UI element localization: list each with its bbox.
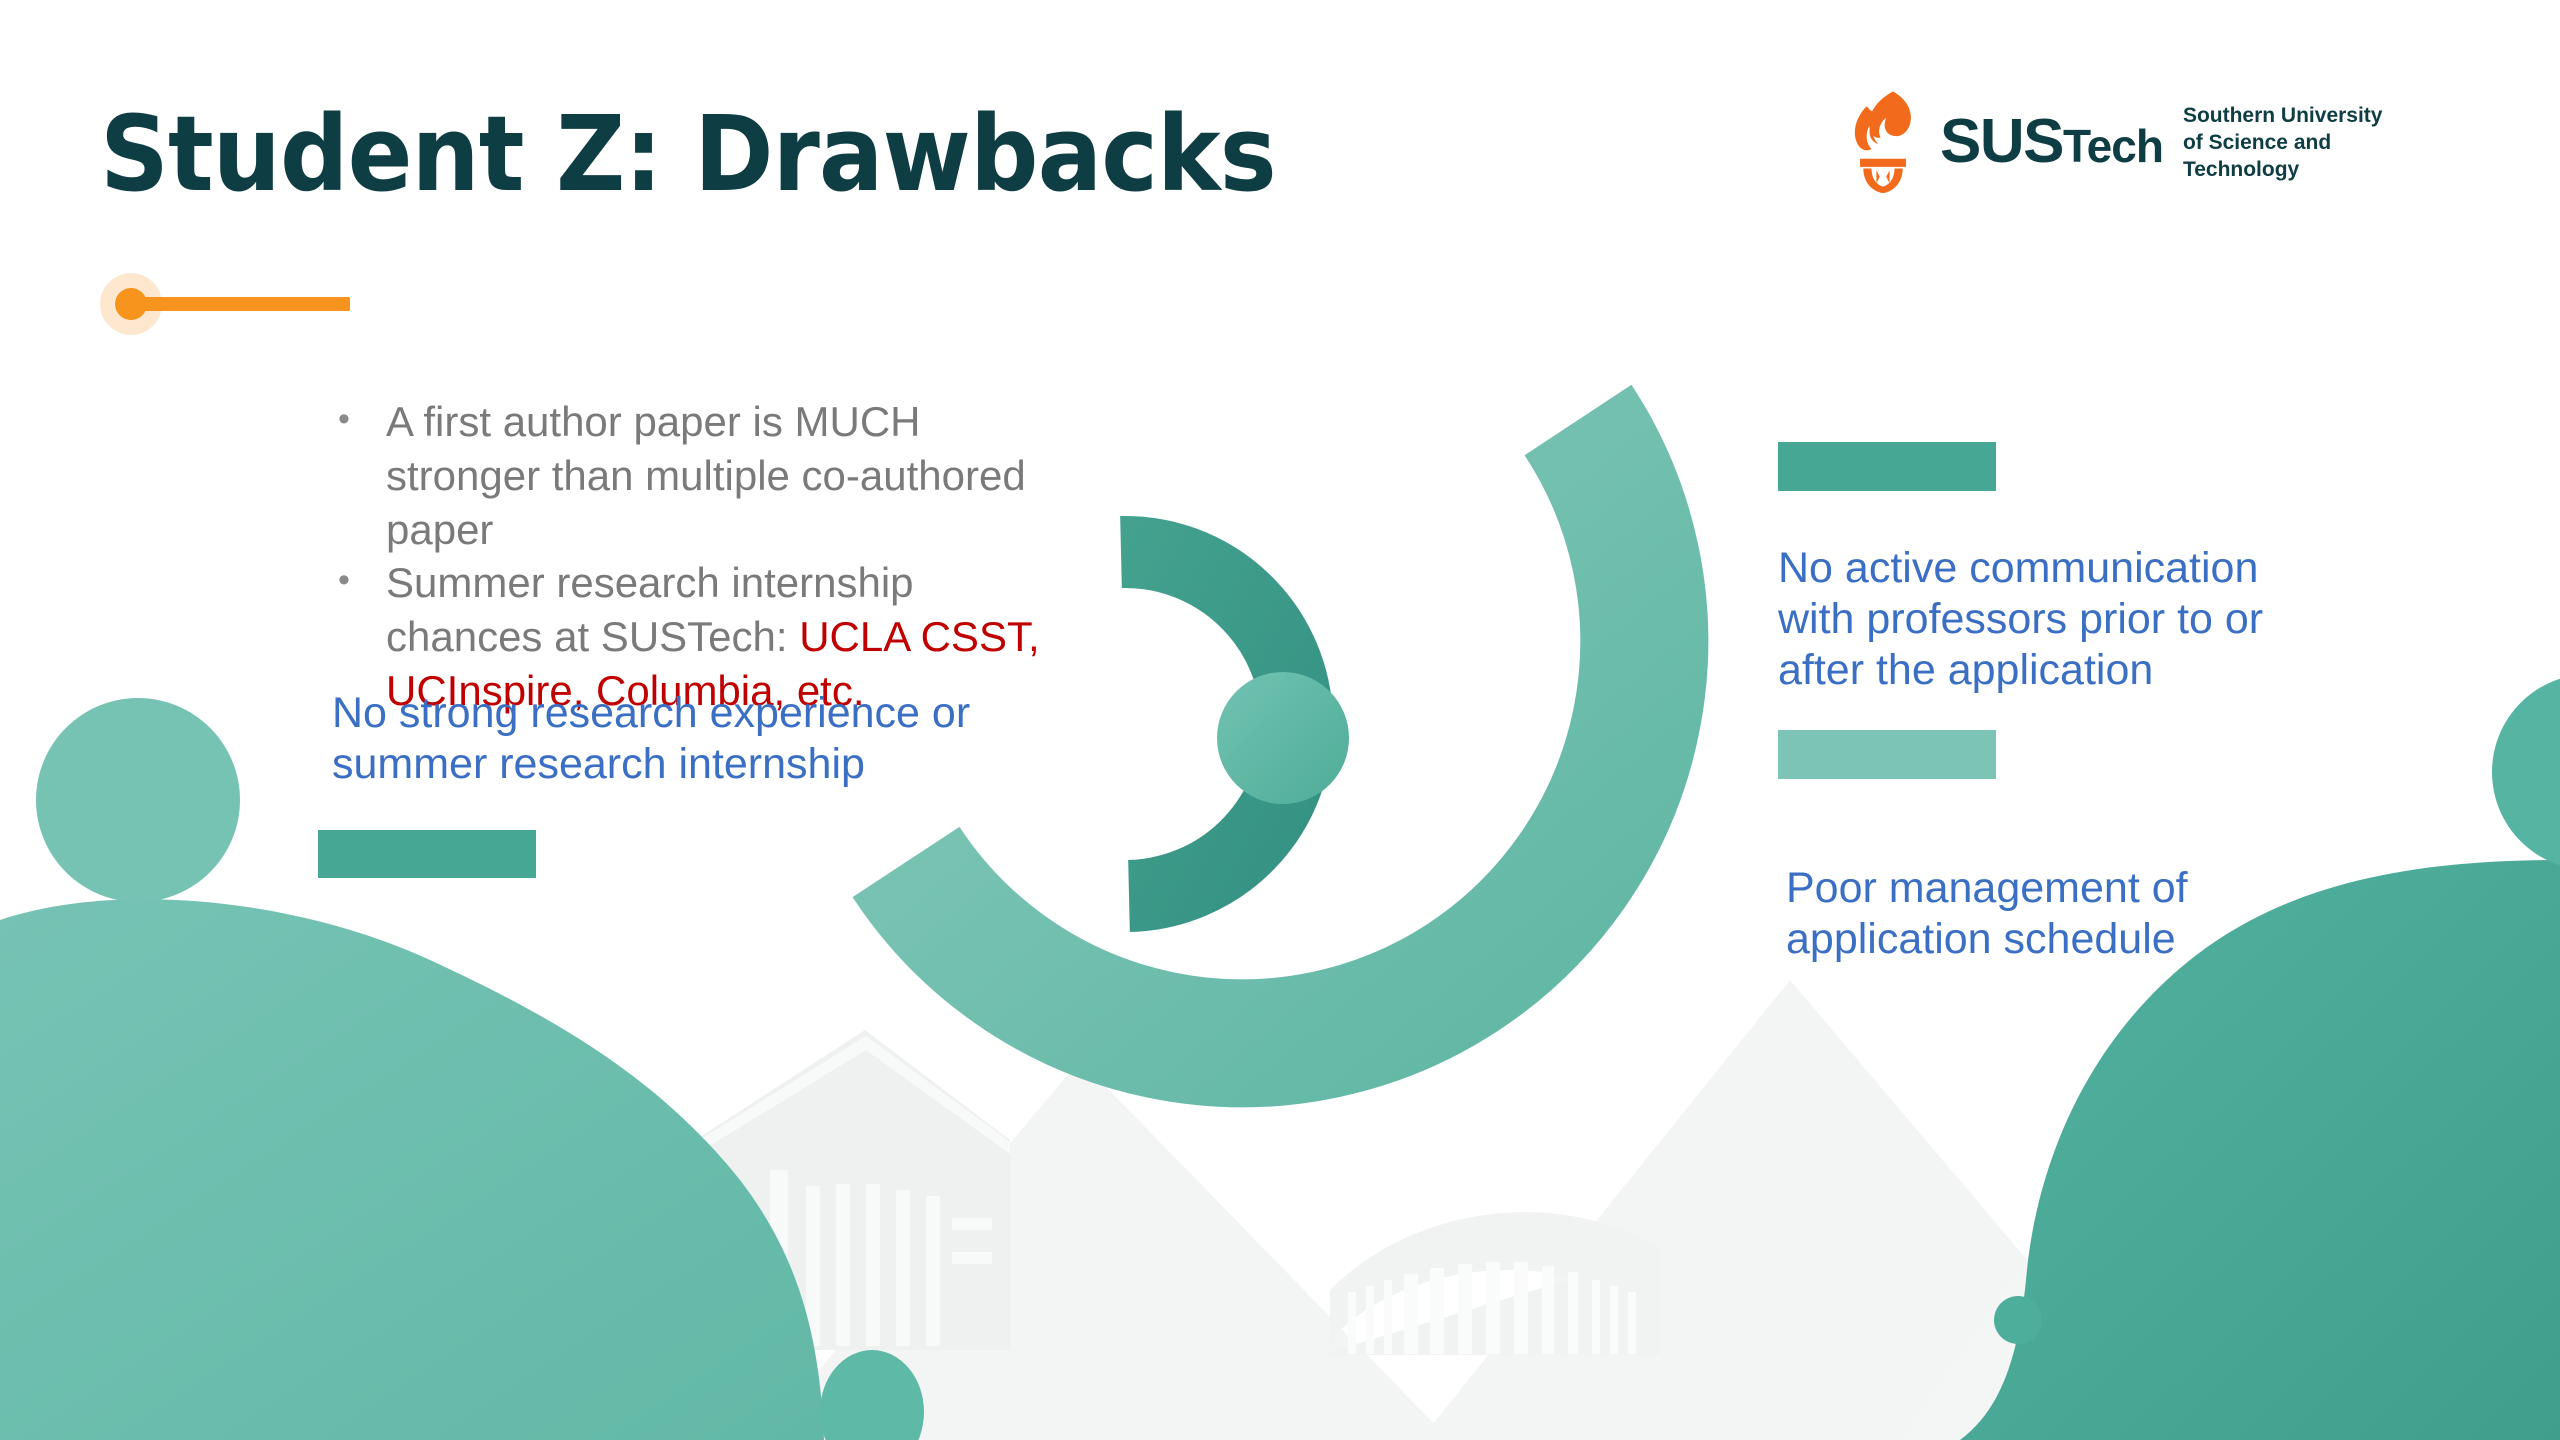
arc-center-dot <box>1217 672 1349 804</box>
circle-left-upper <box>36 698 240 902</box>
accent-line <box>128 297 350 311</box>
logo-wordmark: SUSTech <box>1940 111 2163 173</box>
title-accent-marker <box>100 272 390 336</box>
campus-watermark-icon <box>560 980 2350 1440</box>
circle-bottom-small <box>1994 1296 2042 1344</box>
bullet-marker-icon: • <box>330 556 386 605</box>
bullet-text-1-plain: A first author paper is MUCH stronger th… <box>386 398 1026 553</box>
blob-bottom-left <box>0 899 824 1440</box>
circle-right-edge <box>2492 674 2560 870</box>
bullet-marker-icon: • <box>330 395 386 444</box>
accent-dot <box>115 288 147 320</box>
teal-bar-right-bottom <box>1778 730 1996 779</box>
torch-flame-icon <box>1842 88 1924 195</box>
page-title-block: Student Z: Drawbacks <box>100 100 1600 209</box>
arc-inner <box>1121 552 1297 896</box>
logo-wordmark-secondary: Tech <box>2063 120 2163 172</box>
bullet-list: • A first author paper is MUCH stronger … <box>330 395 1060 718</box>
teal-bar-right-top <box>1778 442 1996 491</box>
right-note-1: No active communication with professors … <box>1778 543 2288 696</box>
right-note-2: Poor management of application schedule <box>1786 863 2216 965</box>
page-title: Student Z: Drawbacks <box>100 100 1480 209</box>
logo-wordmark-main: SUS <box>1940 107 2063 176</box>
logo-tagline-line-3: Technology <box>2183 157 2383 184</box>
circle-bottom-mid-left <box>820 1350 924 1440</box>
right-notes-column: No active communication with professors … <box>1778 442 2298 779</box>
logo-tagline-line-2: of Science and <box>2183 130 2383 157</box>
list-item: • A first author paper is MUCH stronger … <box>330 395 1060 556</box>
bullet-text-1: A first author paper is MUCH stronger th… <box>386 395 1060 556</box>
teal-bar-left <box>318 830 536 878</box>
left-blue-note: No strong research experience or summer … <box>332 688 1092 789</box>
slide-canvas: Student Z: Drawbacks SUSTech Southern Un… <box>0 0 2560 1440</box>
logo-tagline: Southern University of Science and Techn… <box>2183 103 2383 184</box>
sustech-logo: SUSTech Southern University of Science a… <box>1842 88 2382 195</box>
logo-tagline-line-1: Southern University <box>2183 103 2383 130</box>
